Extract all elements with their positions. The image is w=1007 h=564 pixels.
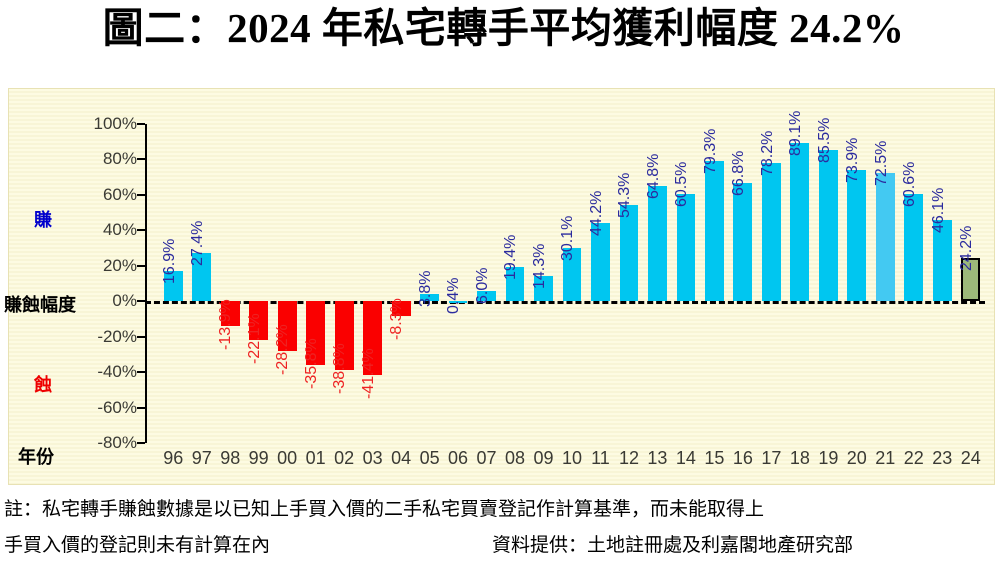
y-axis-tick-label: 20% [103, 256, 137, 276]
x-axis-tick-label-09: 09 [534, 448, 554, 469]
x-axis-tick-label-22: 22 [904, 448, 924, 469]
y-axis-tick-label: 0% [112, 291, 137, 311]
bar-value-label-21: 72.5% [873, 140, 891, 185]
bar-value-label-99: -22.1% [246, 314, 264, 365]
bar-value-label-24: 24.2% [958, 226, 976, 271]
y-axis-tick [137, 158, 145, 160]
x-axis-tick-labels: 9697989900010203040506070809101112131415… [145, 448, 985, 474]
x-axis-tick-label-16: 16 [733, 448, 753, 469]
bar-22 [904, 194, 923, 301]
bar-value-label-22: 60.6% [901, 161, 919, 206]
x-axis-tick-label-21: 21 [875, 448, 895, 469]
x-axis-tick-label-23: 23 [932, 448, 952, 469]
y-axis-tick [137, 194, 145, 196]
bar-value-label-08: 19.4% [502, 234, 520, 279]
bar-15 [705, 161, 724, 302]
footnote-source: 資料提供：土地註冊處及利嘉閣地產研究部 [492, 530, 853, 557]
bar-value-label-06: 0.4% [445, 277, 463, 313]
x-axis-tick-label-14: 14 [676, 448, 696, 469]
x-axis-tick-label-97: 97 [192, 448, 212, 469]
y-axis-tick [137, 229, 145, 231]
footnote-line-1: 註：私宅轉手賺蝕數據是以已知上手買入價的二手私宅買賣登記作計算基準，而未能取得上 [4, 494, 764, 521]
y-axis-tick-label: -80% [97, 433, 137, 453]
bar-17 [762, 163, 781, 302]
bar-value-label-01: -35.8% [303, 338, 321, 389]
bar-value-label-13: 64.8% [645, 154, 663, 199]
bar-value-label-97: 27.4% [189, 220, 207, 265]
page-title: 圖二：2024 年私宅轉手平均獲利幅度 24.2% [0, 2, 1007, 54]
footnote-line-2: 手買入價的登記則未有計算在內 [4, 530, 270, 557]
y-axis-tick [137, 442, 145, 444]
bar-value-label-18: 89.1% [787, 111, 805, 156]
x-axis-title: 年份 [18, 443, 54, 469]
bar-value-label-05: 3.8% [417, 271, 435, 307]
x-axis-tick-label-10: 10 [562, 448, 582, 469]
bar-18 [790, 143, 809, 301]
bar-value-label-00: -28.2% [274, 324, 292, 375]
x-axis-tick-label-17: 17 [761, 448, 781, 469]
bar-21 [876, 173, 895, 301]
bar-value-label-20: 73.9% [844, 138, 862, 183]
y-axis-tick [137, 265, 145, 267]
bar-20 [847, 170, 866, 301]
zero-baseline [145, 301, 985, 304]
y-axis-tick-label: 100% [94, 114, 137, 134]
x-axis-tick-label-02: 02 [334, 448, 354, 469]
y-axis-tick [137, 336, 145, 338]
x-axis-tick-label-98: 98 [220, 448, 240, 469]
y-axis-tick [137, 123, 145, 125]
x-axis-tick-label-99: 99 [249, 448, 269, 469]
bar-12 [620, 205, 639, 301]
y-axis-tick-label: -40% [97, 362, 137, 382]
x-axis-tick-label-13: 13 [647, 448, 667, 469]
x-axis-tick-label-05: 05 [420, 448, 440, 469]
bar-value-label-10: 30.1% [559, 216, 577, 261]
bar-value-label-14: 60.5% [673, 162, 691, 207]
y-axis-tick-label: 60% [103, 185, 137, 205]
bar-19 [819, 150, 838, 302]
y-axis-tick [137, 407, 145, 409]
bar-value-label-16: 66.8% [730, 150, 748, 195]
bar-value-label-12: 54.3% [616, 173, 634, 218]
bar-value-label-04: -8.3% [388, 298, 406, 340]
x-axis-tick-label-07: 07 [477, 448, 497, 469]
x-axis-tick-label-00: 00 [277, 448, 297, 469]
y-axis-tick [137, 300, 145, 302]
bar-14 [677, 194, 696, 301]
x-axis-tick-label-04: 04 [391, 448, 411, 469]
bar-value-label-98: -13.9% [217, 299, 235, 350]
x-axis-tick-label-19: 19 [818, 448, 838, 469]
y-axis-tick-label: -60% [97, 398, 137, 418]
bar-value-label-07: 6.0% [474, 267, 492, 303]
bar-value-label-19: 85.5% [816, 117, 834, 162]
bar-value-label-23: 46.1% [930, 187, 948, 232]
bar-value-label-09: 14.3% [531, 244, 549, 289]
bar-value-label-11: 44.2% [588, 191, 606, 236]
x-axis-tick-label-15: 15 [704, 448, 724, 469]
bar-value-label-03: -41.4% [360, 348, 378, 399]
y-axis-line [145, 124, 147, 443]
y-axis-tick-label: 40% [103, 220, 137, 240]
x-axis-tick-label-11: 11 [591, 448, 610, 469]
y-axis-tick [137, 371, 145, 373]
x-axis-tick-label-01: 01 [306, 448, 326, 469]
x-axis-tick-label-08: 08 [505, 448, 525, 469]
bar-value-label-96: 16.9% [161, 239, 179, 284]
x-axis-tick-label-18: 18 [790, 448, 810, 469]
chart-page: 圖二：2024 年私宅轉手平均獲利幅度 24.2% 賺 賺蝕幅度 蝕 年份 10… [0, 0, 1007, 564]
bar-13 [648, 186, 667, 301]
y-axis-tick-label: 80% [103, 149, 137, 169]
x-axis-tick-label-20: 20 [847, 448, 867, 469]
y-axis-tick-labels: 100%80%60%40%20%0%-20%-40%-60%-80% [55, 124, 137, 443]
plot-area: 16.9%27.4%-13.9%-22.1%-28.2%-35.8%-38.8%… [145, 124, 985, 443]
bar-16 [733, 183, 752, 301]
gain-label: 賺 [34, 206, 52, 232]
loss-label: 蝕 [34, 371, 52, 397]
x-axis-tick-label-03: 03 [363, 448, 383, 469]
bar-value-label-02: -38.8% [331, 343, 349, 394]
x-axis-tick-label-24: 24 [961, 448, 981, 469]
bar-value-label-17: 78.2% [759, 130, 777, 175]
x-axis-tick-label-96: 96 [163, 448, 183, 469]
x-axis-tick-label-06: 06 [448, 448, 468, 469]
y-axis-tick-label: -20% [97, 327, 137, 347]
bar-value-label-15: 79.3% [702, 128, 720, 173]
x-axis-tick-label-12: 12 [619, 448, 639, 469]
